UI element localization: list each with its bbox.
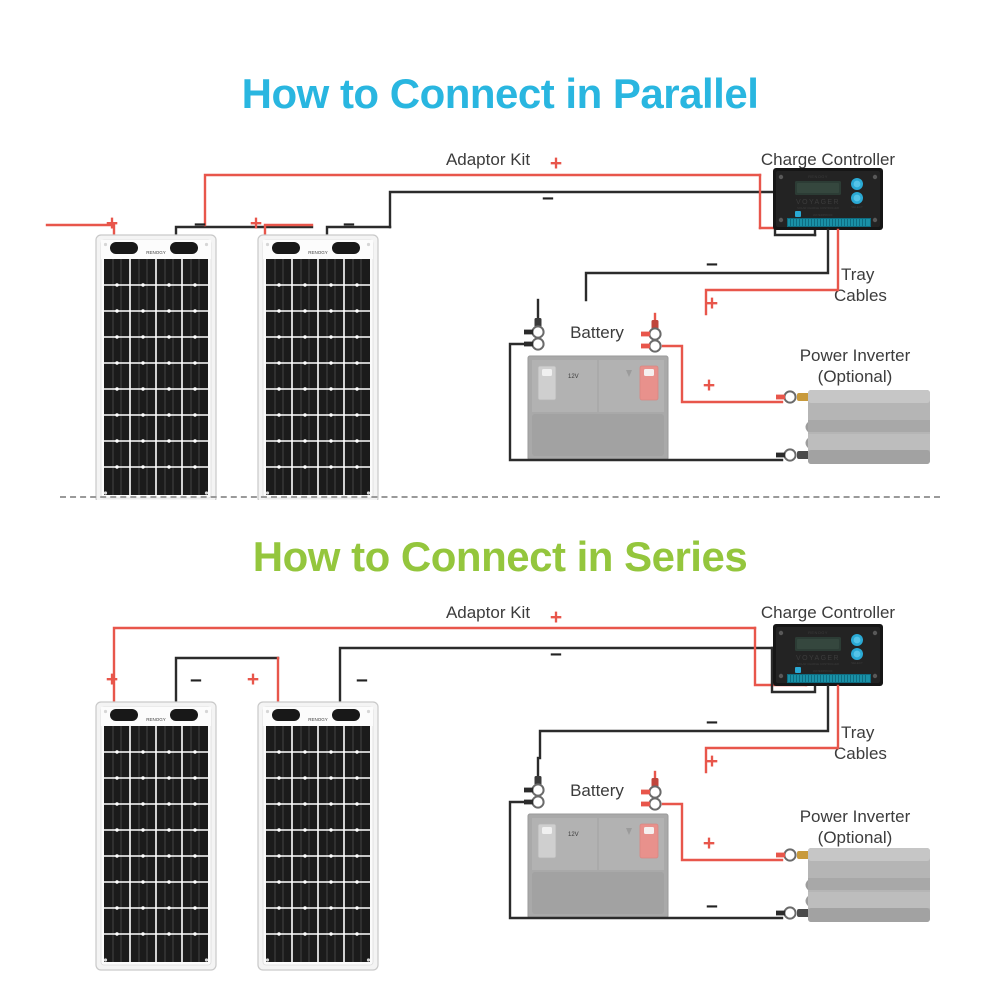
wire-pos-bus-to-controller [205, 175, 760, 225]
charge-controller[interactable] [773, 168, 883, 230]
wire-series-panel1-positive [114, 628, 755, 702]
sign-tray-positive: + [706, 292, 718, 315]
wire-neg-bus-to-controller [390, 192, 775, 227]
label-charge-controller-series: Charge Controller [761, 603, 896, 622]
sign-tray-negative: – [706, 252, 718, 275]
ring-terminal-battery-positive-lower [641, 340, 661, 351]
wire-series-battery-positive-trunk [706, 686, 838, 772]
sign-panel1-positive: + [106, 212, 118, 235]
sign-adaptor-positive: + [550, 152, 562, 175]
wiring-diagram-page: How to Connect in Parallel [0, 0, 1000, 1000]
label-battery: Battery [570, 323, 624, 342]
page-title-series: How to Connect in Series [0, 533, 1000, 581]
label-charge-controller: Charge Controller [761, 150, 896, 169]
sign-adaptor-negative: – [542, 186, 554, 209]
wire-series-battery-pos-to-inverter [663, 804, 782, 860]
label-tray-cables-line2: Cables [834, 286, 887, 305]
power-inverter-series[interactable] [806, 848, 931, 922]
label-adaptor-kit: Adaptor Kit [446, 150, 530, 169]
ring-terminal-battery-positive-upper [641, 328, 661, 339]
page-title-parallel: How to Connect in Parallel [0, 70, 1000, 118]
label-tray-cables-series-line2: Cables [834, 744, 887, 763]
ring-terminal-battery-positive-lower-series [641, 798, 661, 809]
wire-panel1-positive [47, 225, 114, 235]
diagram-parallel: RENOGY RENOGY [0, 130, 1000, 500]
sign-series-tray-negative: – [706, 710, 718, 733]
sign-panel1-negative: – [194, 212, 206, 235]
sign-panel2-positive: + [250, 212, 262, 235]
ring-terminal-battery-negative-lower [524, 338, 544, 349]
solar-panel-2-series[interactable] [258, 702, 378, 970]
wire-panel2-negative [327, 227, 390, 235]
label-power-inverter-line1: Power Inverter [800, 346, 911, 365]
label-power-inverter-series-line2: (Optional) [818, 828, 893, 847]
sign-inverter-positive: + [703, 374, 715, 397]
label-adaptor-kit-series: Adaptor Kit [446, 603, 530, 622]
wire-battery-pos-to-inverter [663, 346, 782, 402]
power-inverter[interactable] [806, 390, 931, 464]
ring-terminal-battery-positive-upper-series [641, 786, 661, 797]
ring-terminal-battery-negative-upper [524, 326, 544, 337]
label-power-inverter-series-line1: Power Inverter [800, 807, 911, 826]
solar-panel-1-series[interactable] [96, 702, 216, 970]
ring-terminal-battery-negative-upper-series [524, 784, 544, 795]
diagram-series: Adaptor Kit Charge Controller Tray Cable… [0, 590, 1000, 990]
battery[interactable] [528, 356, 668, 460]
sign-series-inverter-positive: + [703, 832, 715, 855]
sign-series-panel1-negative: – [190, 668, 202, 691]
label-tray-cables-series-line1: Tray [841, 723, 875, 742]
sign-series-panel1-positive: + [106, 668, 118, 691]
sign-series-panel2-negative: – [356, 668, 368, 691]
sign-series-tray-positive: + [706, 750, 718, 773]
sign-panel2-negative: – [343, 212, 355, 235]
ring-terminal-battery-negative-lower-series [524, 796, 544, 807]
sign-series-inverter-negative: – [706, 894, 718, 917]
charge-controller-series[interactable] [773, 624, 883, 686]
label-battery-series: Battery [570, 781, 624, 800]
battery-series[interactable] [528, 814, 668, 918]
solar-panel-2[interactable] [258, 235, 378, 500]
label-power-inverter-line2: (Optional) [818, 367, 893, 386]
sign-series-panel2-positive: + [247, 668, 259, 691]
solar-panel-1[interactable] [96, 235, 216, 500]
section-divider [60, 496, 940, 498]
sign-series-adaptor-negative: – [550, 642, 562, 665]
sign-series-adaptor-positive: + [550, 606, 562, 629]
label-tray-cables-line1: Tray [841, 265, 875, 284]
